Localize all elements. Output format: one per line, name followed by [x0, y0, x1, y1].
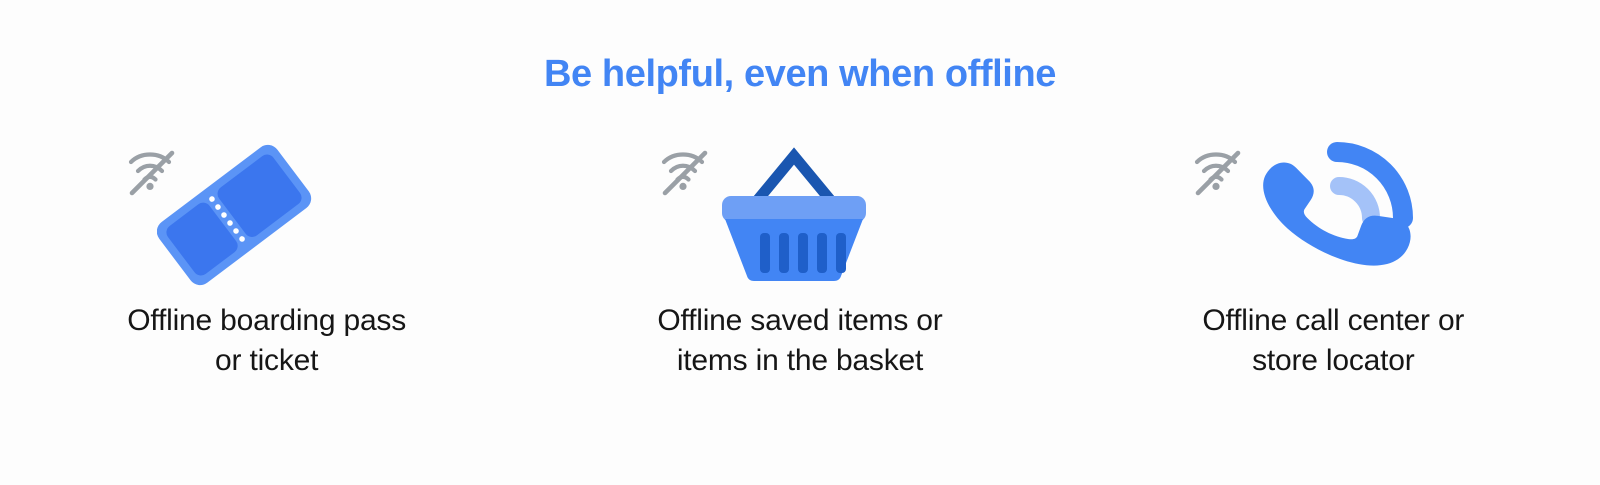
icon-area-call-center	[1183, 140, 1483, 295]
shopping-basket-icon	[708, 140, 888, 295]
feature-call-center: Offline call center or store locator	[1103, 140, 1563, 381]
phone-call-icon	[1251, 140, 1421, 295]
feature-saved-items: Offline saved items or items in the bask…	[570, 140, 1030, 381]
feature-boarding-pass: Offline boarding pass or ticket	[37, 140, 497, 381]
page-title: Be helpful, even when offline	[0, 52, 1600, 98]
feature-caption: Offline call center or store locator	[1202, 301, 1464, 381]
icon-area-boarding-pass	[117, 140, 417, 295]
wifi-off-icon	[658, 148, 714, 205]
offline-features-banner: Be helpful, even when offline	[0, 0, 1600, 485]
feature-caption: Offline boarding pass or ticket	[127, 301, 406, 381]
ticket-icon	[157, 144, 317, 299]
wifi-off-icon	[1191, 148, 1247, 205]
icon-area-saved-items	[650, 140, 950, 295]
feature-list: Offline boarding pass or ticket	[0, 140, 1600, 381]
feature-caption: Offline saved items or items in the bask…	[657, 301, 942, 381]
